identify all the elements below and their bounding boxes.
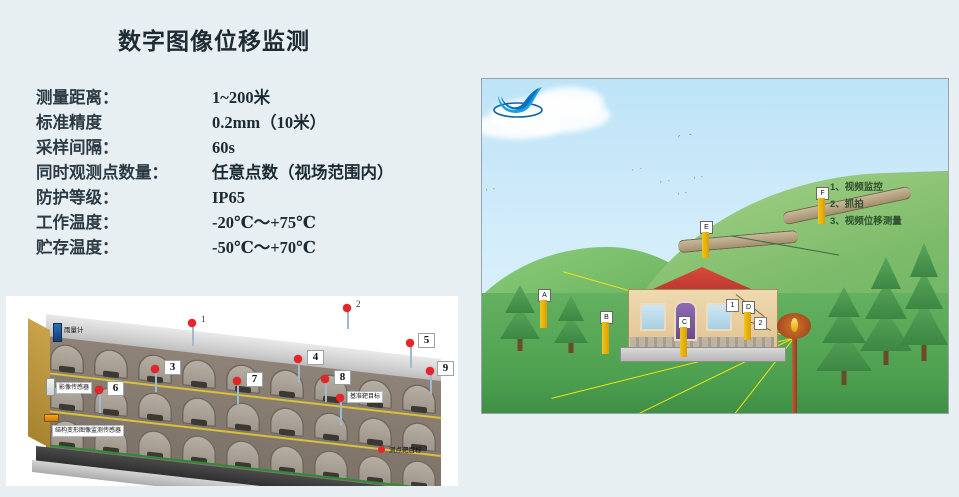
tree	[554, 289, 588, 353]
rain-gauge-sensor	[53, 323, 62, 342]
arch	[402, 459, 436, 486]
camera-mast-pole	[792, 329, 797, 414]
spec-row: 标准精度 0.2mm（10米）	[36, 109, 394, 134]
house-window	[640, 303, 666, 331]
spec-value: IP65	[212, 188, 245, 208]
marker-number: 4	[307, 350, 324, 365]
arch	[226, 401, 260, 433]
illustration-legend-item-1: 1、视频监控	[830, 179, 902, 196]
tree-foliage	[910, 243, 938, 277]
spec-value: 1~200米	[212, 84, 270, 108]
spec-value: 任意点数（视场范围内）	[212, 159, 394, 183]
marker-number: 1	[201, 314, 206, 324]
marker-dot	[294, 355, 302, 363]
marker-stem	[155, 370, 157, 392]
marker-number: 7	[246, 372, 263, 387]
water-drop-swoosh-logo-icon	[492, 85, 548, 119]
marker-number: 3	[164, 360, 181, 375]
marker-number: 8	[334, 370, 351, 385]
spec-value: -50℃～+70℃	[212, 234, 316, 258]
tree-foliage	[558, 295, 584, 321]
marker-number: 9	[437, 361, 454, 376]
camera-lens-icon	[791, 318, 798, 332]
spec-label: 贮存温度：	[36, 234, 212, 258]
viaduct-illustration: 雨量计 影像传感器 结构变形图像监测传感器 1 2 3	[6, 296, 458, 486]
spec-value: 0.2mm（10米）	[212, 109, 326, 133]
pole-shaft	[702, 232, 709, 258]
pole-shaft	[540, 300, 547, 328]
spec-row: 同时观测点数量： 任意点数（视场范围内）	[36, 159, 394, 184]
legend-marker-dot-icon	[378, 446, 385, 453]
arch	[50, 342, 84, 374]
marker-stem	[237, 382, 239, 404]
marker-number: 2	[356, 299, 361, 309]
spec-label: 标准精度	[36, 109, 212, 133]
house: 1 2	[614, 259, 790, 369]
arch	[138, 390, 172, 422]
marker-stem	[99, 391, 101, 413]
spec-label: 防护等级：	[36, 184, 212, 208]
marker-dot	[233, 377, 241, 385]
spec-list: 测量距离： 1~200米 标准精度 0.2mm（10米） 采样间隔： 60s 同…	[36, 84, 394, 259]
marker-dot	[95, 386, 103, 394]
image-sensor-label: 影像传感器	[56, 382, 92, 394]
spec-value: -20℃～+75℃	[212, 209, 316, 233]
arch	[94, 347, 128, 379]
reference-target-label: 基准靶目标	[347, 391, 383, 403]
marker-dot	[321, 375, 329, 383]
marker-dot	[188, 319, 196, 327]
marker-stem	[410, 344, 412, 368]
illustration-legend-item-2: 2、抓拍	[830, 196, 902, 213]
arch	[314, 411, 348, 443]
illustration-legend-item-3: 3、视频位移测量	[830, 213, 902, 230]
page-title: 数字图像位移监测	[118, 22, 310, 56]
tree	[900, 243, 948, 363]
spec-value: 60s	[212, 138, 235, 158]
tree-foliage	[828, 287, 860, 317]
spec-label: 同时观测点数量：	[36, 159, 212, 183]
deformation-sensor-device	[44, 414, 59, 422]
marker-stem	[192, 324, 194, 346]
marker-dot	[343, 304, 351, 312]
marker-stem	[430, 372, 432, 394]
structure-diagram-panel: 雨量计 影像传感器 结构变形图像监测传感器 1 2 3	[6, 296, 458, 486]
marker-dot	[426, 367, 434, 375]
tree-foliage	[505, 285, 535, 313]
house-base-slab	[620, 347, 786, 362]
legend-label: 测点靶目标	[389, 444, 422, 454]
slide-root: 数字图像位移监测 测量距离： 1~200米 标准精度 0.2mm（10米） 采样…	[0, 0, 959, 497]
pole-shaft	[680, 327, 687, 357]
spec-row: 工作温度： -20℃～+75℃	[36, 209, 394, 234]
diagram-legend: 测点靶目标	[378, 444, 422, 454]
spec-row: 测量距离： 1~200米	[36, 84, 394, 109]
pole-shaft	[744, 312, 751, 340]
arch	[182, 395, 216, 427]
tree-foliage	[871, 257, 901, 289]
marker-stem	[347, 309, 349, 329]
rain-gauge-label: 雨量计	[64, 324, 84, 334]
spec-row: 采样间隔： 60s	[36, 134, 394, 159]
arch	[182, 357, 216, 389]
marker-stem	[340, 399, 342, 425]
spec-row: 防护等级： IP65	[36, 184, 394, 209]
tree	[500, 275, 540, 351]
arch	[270, 406, 304, 438]
marker-number: 5	[418, 333, 435, 348]
marker-stem	[325, 380, 327, 402]
crack-tag: 1	[726, 299, 739, 312]
marker-dot	[151, 365, 159, 373]
pole-shaft	[818, 198, 825, 224]
marker-stem	[298, 360, 300, 382]
deformation-sensor-label: 结构变形图像监测传感器	[52, 425, 124, 437]
spec-row: 贮存温度： -50℃～+70℃	[36, 234, 394, 259]
marker-number: 6	[107, 381, 124, 396]
pole-shaft	[602, 322, 609, 354]
spec-label: 测量距离：	[36, 84, 212, 108]
marker-dot	[336, 394, 344, 402]
image-sensor-device	[46, 378, 55, 396]
spec-label: 工作温度：	[36, 209, 212, 233]
marker-dot	[406, 339, 414, 347]
spec-label: 采样间隔：	[36, 134, 212, 158]
arch	[358, 416, 392, 448]
scene-illustration-panel: 1 2 A B C D E F	[481, 78, 949, 414]
crack-tag: 2	[754, 317, 767, 330]
illustration-legend: 1、视频监控 2、抓拍 3、视频位移测量	[830, 179, 902, 230]
